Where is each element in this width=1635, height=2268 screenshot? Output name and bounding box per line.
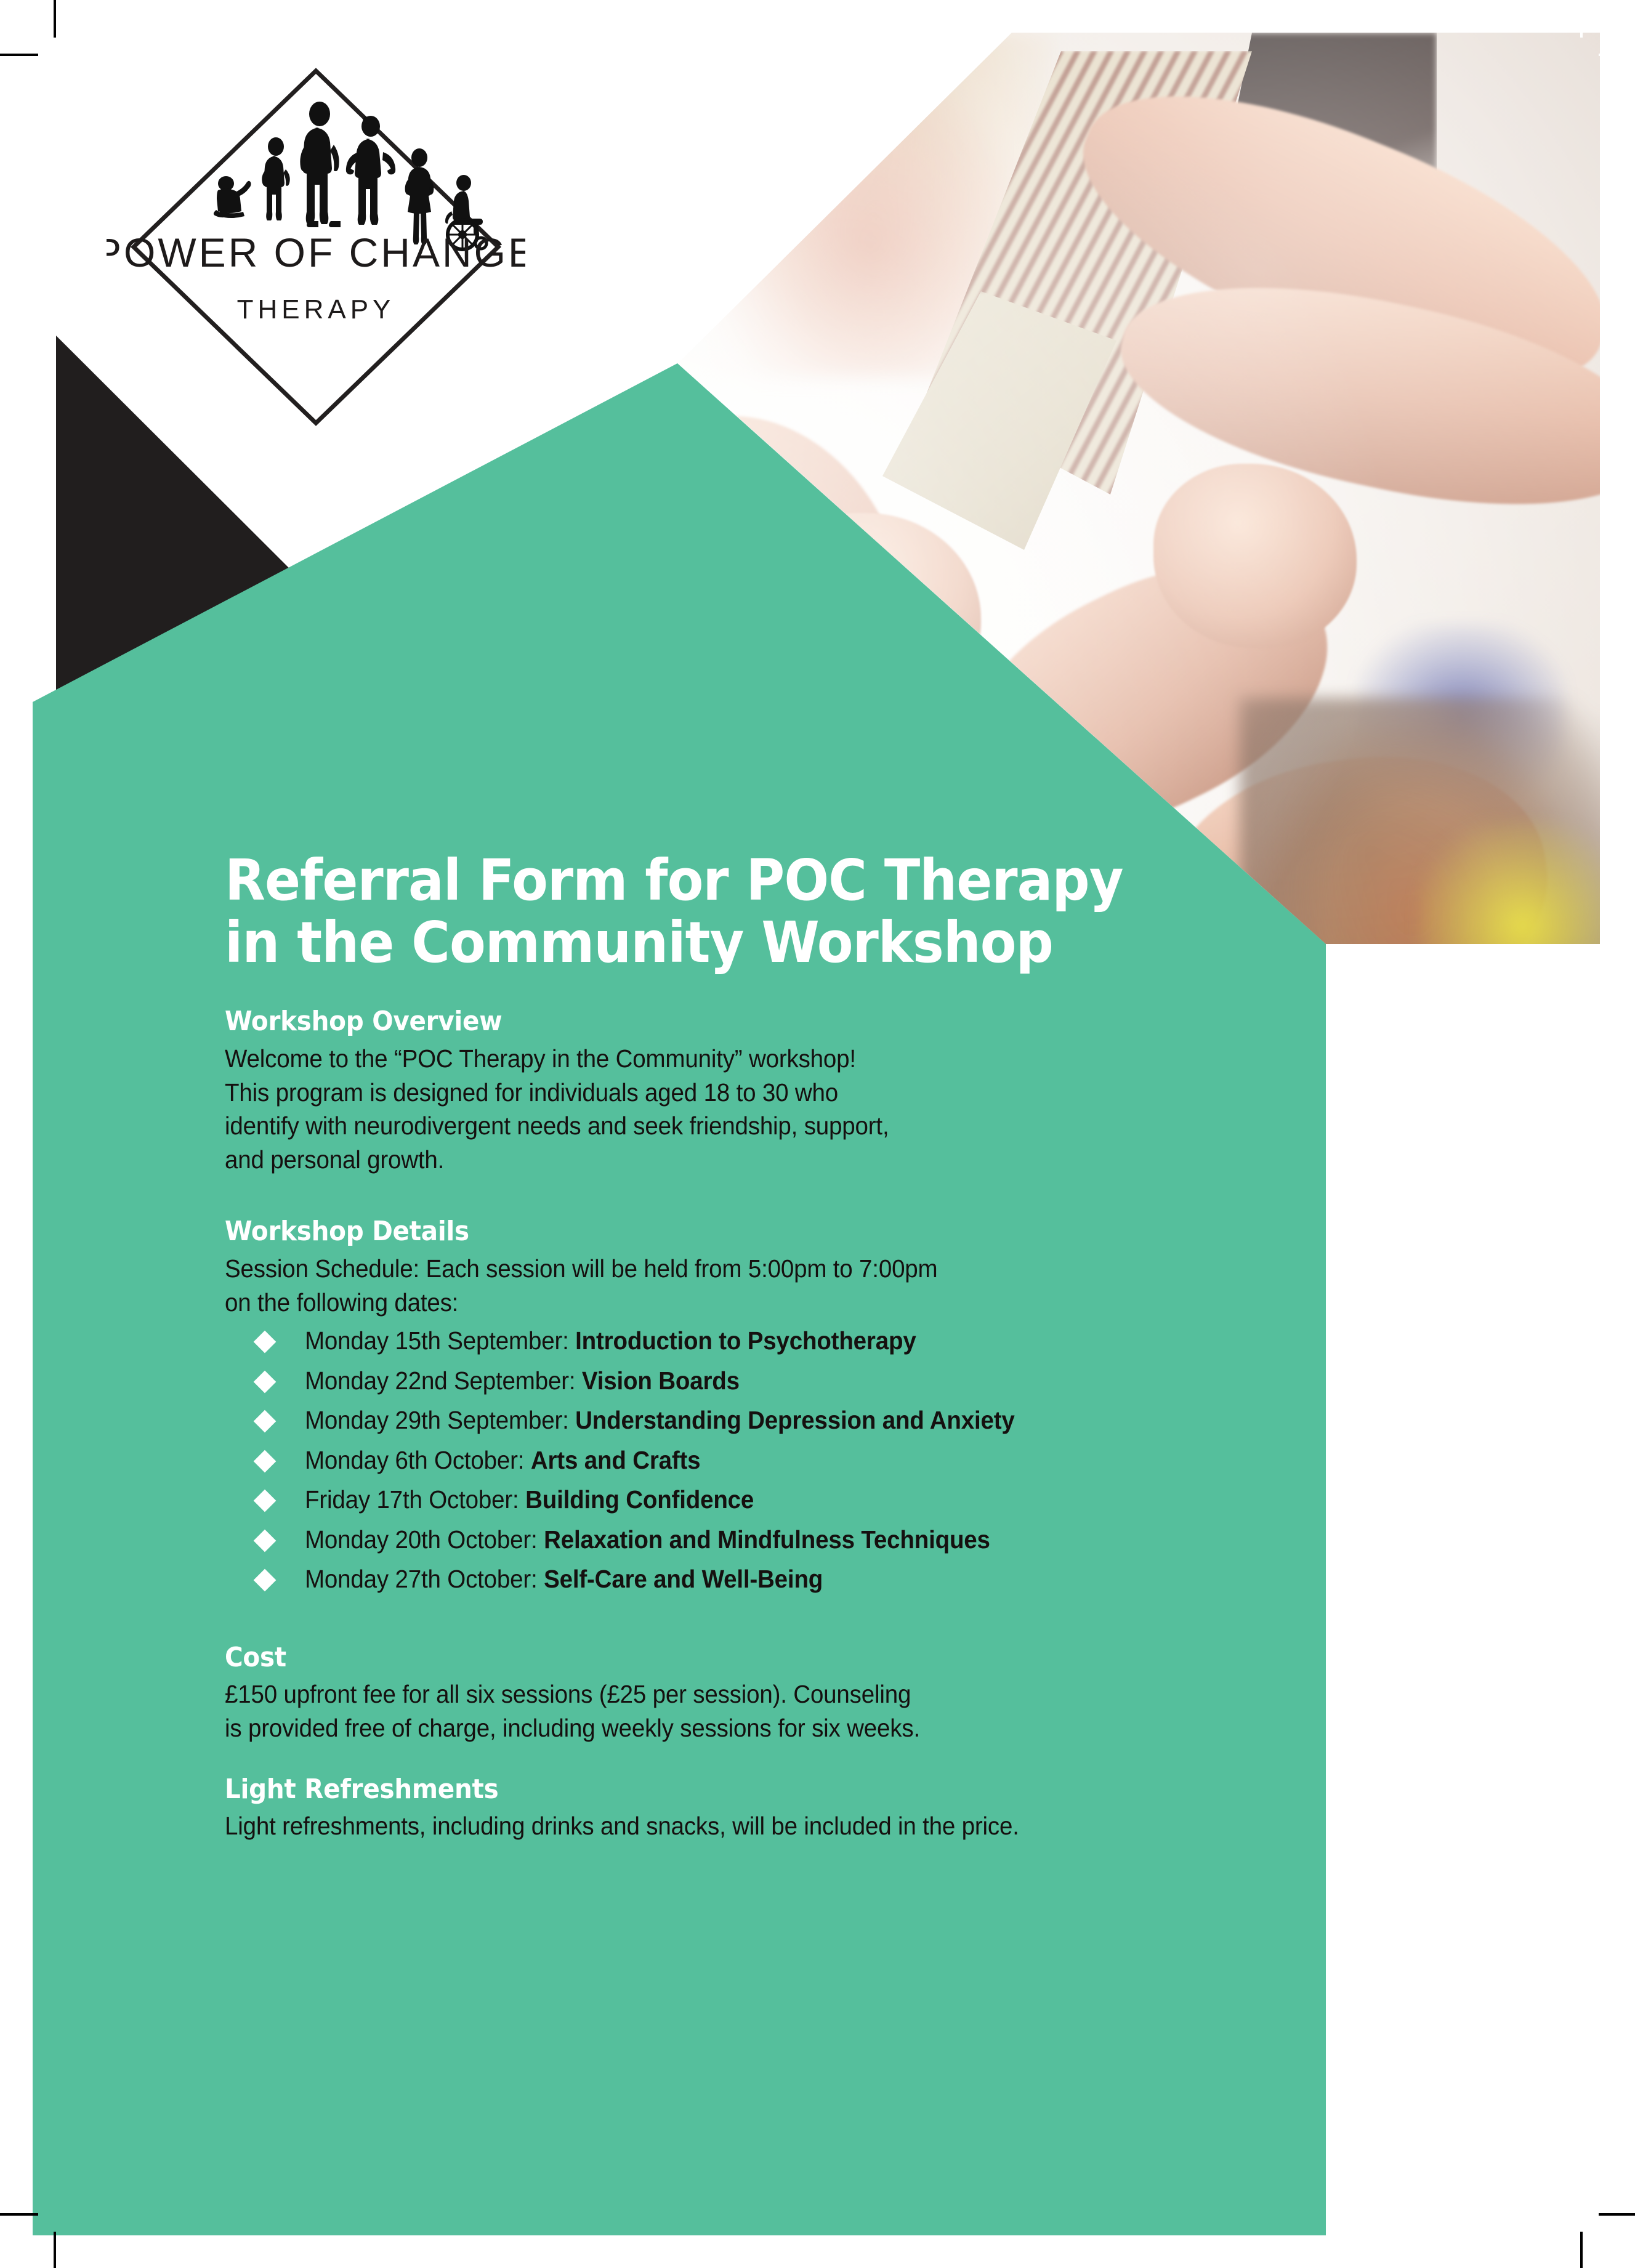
session-topic: Understanding Depression and Anxiety xyxy=(575,1406,1014,1434)
crop-mark-top-left-vertical xyxy=(54,0,56,38)
session-date: Monday 22nd September: xyxy=(305,1366,582,1395)
schedule-line-1: Session Schedule: Each session will be h… xyxy=(225,1252,1359,1286)
section-heading-workshop-overview: Workshop Overview xyxy=(225,1006,1335,1038)
session-line: Monday 15th September: Introduction to P… xyxy=(305,1324,916,1358)
diamond-bullet-icon xyxy=(254,1529,277,1552)
session-line: Friday 17th October: Building Confidence xyxy=(305,1483,754,1517)
section-heading-cost: Cost xyxy=(225,1642,1335,1674)
section-heading-light-refreshments: Light Refreshments xyxy=(225,1774,1335,1806)
page-title-line-2: in the Community Workshop xyxy=(225,911,1347,974)
session-topic: Building Confidence xyxy=(525,1485,754,1514)
diamond-bullet-icon xyxy=(254,1370,277,1393)
session-date: Monday 20th October: xyxy=(305,1525,544,1554)
crop-mark-bottom-left-vertical xyxy=(54,2232,56,2268)
logo-wordmark-primary: POWER OF CHANGE xyxy=(107,230,525,275)
session-topic: Introduction to Psychotherapy xyxy=(575,1326,916,1355)
session-list-item: Monday 29th September: Understanding Dep… xyxy=(225,1403,1432,1437)
session-list: Monday 15th September: Introduction to P… xyxy=(225,1324,1432,1596)
cost-line-2: is provided free of charge, including we… xyxy=(225,1711,1359,1745)
session-list-item: Monday 22nd September: Vision Boards xyxy=(225,1364,1432,1398)
refreshments-line-1: Light refreshments, including drinks and… xyxy=(225,1809,1359,1843)
overview-line-1: Welcome to the “POC Therapy in the Commu… xyxy=(225,1042,1359,1076)
crop-mark-bottom-right-vertical xyxy=(1580,2232,1583,2268)
session-topic: Arts and Crafts xyxy=(531,1446,701,1474)
session-list-item: Monday 20th October: Relaxation and Mind… xyxy=(225,1523,1432,1557)
session-line: Monday 22nd September: Vision Boards xyxy=(305,1364,740,1398)
overview-line-2: This program is designed for individuals… xyxy=(225,1076,1359,1110)
session-line: Monday 20th October: Relaxation and Mind… xyxy=(305,1523,990,1557)
session-line: Monday 6th October: Arts and Crafts xyxy=(305,1443,700,1477)
session-topic: Self-Care and Well-Being xyxy=(544,1565,823,1593)
section-heading-workshop-details: Workshop Details xyxy=(225,1216,1335,1248)
page-title: Referral Form for POC Therapy in the Com… xyxy=(225,849,1347,974)
diamond-bullet-icon xyxy=(254,1569,277,1592)
session-list-item: Friday 17th October: Building Confidence xyxy=(225,1483,1432,1517)
flyer-page: POWER OF CHANGE THERAPY Referral Form fo… xyxy=(33,33,1600,2235)
crop-mark-top-left-horizontal xyxy=(0,54,38,56)
crop-mark-bottom-left-horizontal xyxy=(0,2213,38,2216)
overview-line-4: and personal growth. xyxy=(225,1143,1359,1177)
diamond-bullet-icon xyxy=(254,1450,277,1472)
diamond-bullet-icon xyxy=(254,1410,277,1433)
session-date: Monday 15th September: xyxy=(305,1326,575,1355)
session-line: Monday 27th October: Self-Care and Well-… xyxy=(305,1562,823,1596)
diamond-bullet-icon xyxy=(254,1490,277,1512)
schedule-line-2: on the following dates: xyxy=(225,1286,1359,1320)
session-line: Monday 29th September: Understanding Dep… xyxy=(305,1403,1015,1437)
cost-line-1: £150 upfront fee for all six sessions (£… xyxy=(225,1677,1359,1711)
crop-mark-top-right-horizontal xyxy=(1599,54,1635,56)
flyer-body-content: Referral Form for POC Therapy in the Com… xyxy=(225,849,1432,1843)
crop-mark-top-right-vertical xyxy=(1580,0,1583,38)
session-date: Friday 17th October: xyxy=(305,1485,525,1514)
session-list-item: Monday 15th September: Introduction to P… xyxy=(225,1324,1432,1358)
session-list-item: Monday 6th October: Arts and Crafts xyxy=(225,1443,1432,1477)
diamond-bullet-icon xyxy=(254,1331,277,1354)
session-topic: Vision Boards xyxy=(582,1366,740,1395)
session-date: Monday 6th October: xyxy=(305,1446,531,1474)
session-date: Monday 29th September: xyxy=(305,1406,575,1434)
session-list-item: Monday 27th October: Self-Care and Well-… xyxy=(225,1562,1432,1596)
crop-mark-bottom-right-horizontal xyxy=(1599,2213,1635,2216)
page-title-line-1: Referral Form for POC Therapy xyxy=(225,849,1347,911)
logo-wordmark-secondary: THERAPY xyxy=(237,294,395,325)
session-topic: Relaxation and Mindfulness Techniques xyxy=(544,1525,990,1554)
logo-power-of-change-therapy: POWER OF CHANGE THERAPY xyxy=(107,57,525,439)
session-date: Monday 27th October: xyxy=(305,1565,544,1593)
overview-line-3: identify with neurodivergent needs and s… xyxy=(225,1109,1359,1143)
